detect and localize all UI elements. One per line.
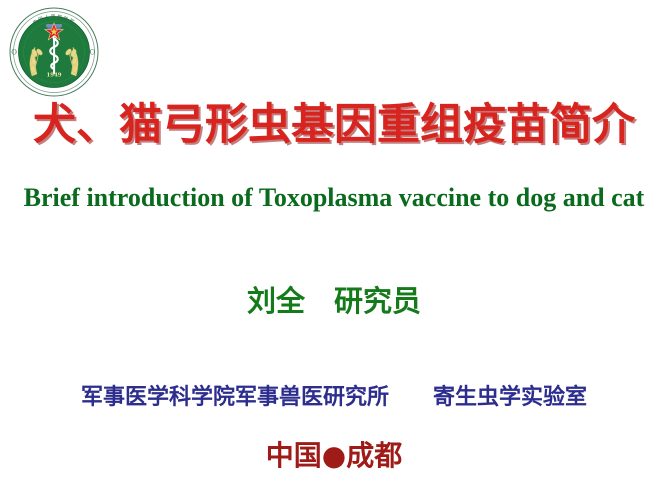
slide-canvas: 中国人民解放军 ACADEMY OF MILITARY 军事医学科学院 Acad…: [0, 0, 668, 502]
institution-and-laboratory: 军事医学科学院军事兽医研究所 寄生虫学实验室: [0, 383, 668, 413]
page-subtitle-english: Brief introduction of Toxoplasma vaccine…: [0, 182, 668, 214]
institution-logo: 中国人民解放军 ACADEMY OF MILITARY 军事医学科学院 Acad…: [8, 6, 100, 98]
page-title-chinese: 犬、猫弓形虫基因重组疫苗简介: [0, 99, 668, 151]
location-label: 中国●成都: [0, 437, 668, 475]
emblem-ring-mark-left: O: [11, 48, 17, 56]
emblem-ring-mark-right: O: [90, 48, 96, 56]
author-name-and-title: 刘全 研究员: [0, 281, 668, 321]
emblem-icon: 中国人民解放军 ACADEMY OF MILITARY 军事医学科学院 Acad…: [8, 6, 100, 98]
emblem-year-label: 1949: [46, 73, 61, 79]
